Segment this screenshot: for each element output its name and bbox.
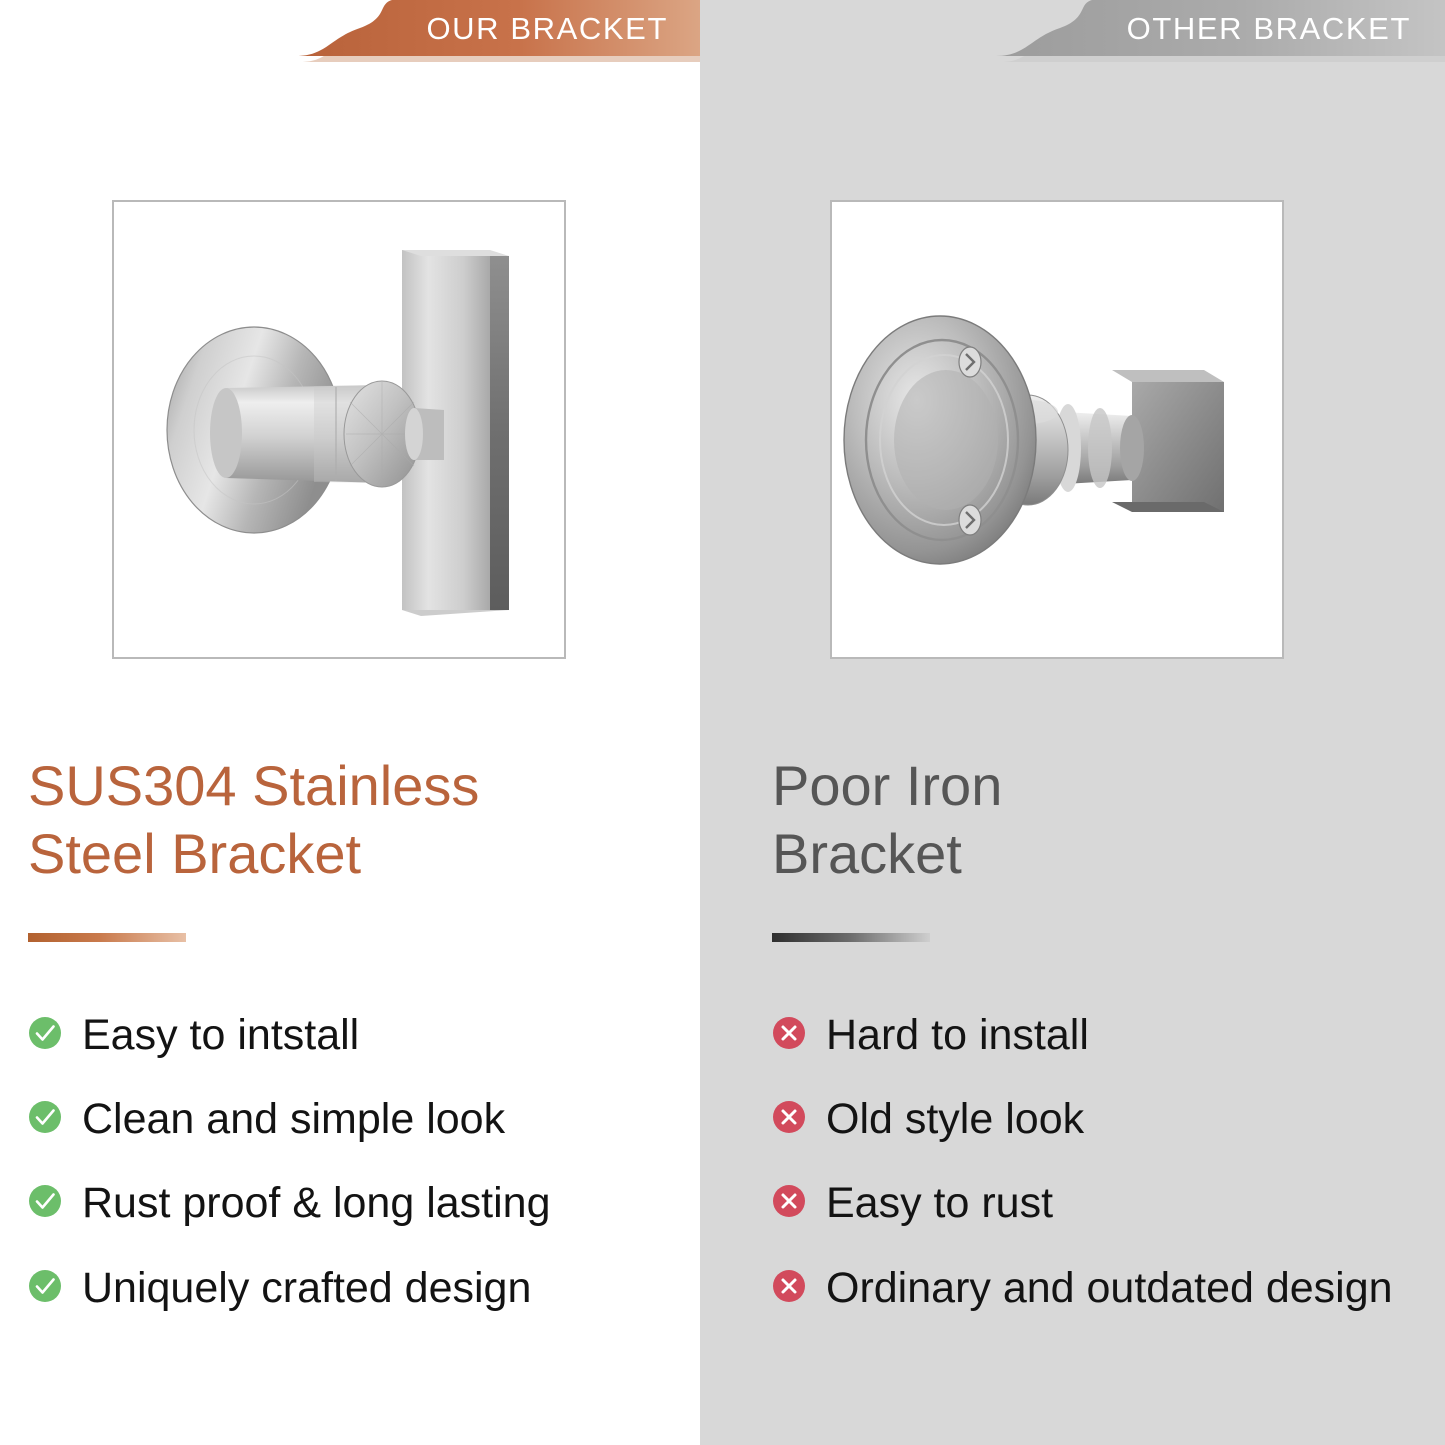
list-item-label: Easy to rust <box>826 1176 1053 1230</box>
screw-top <box>959 347 981 377</box>
list-item-label: Uniquely crafted design <box>82 1261 531 1315</box>
list-item: Clean and simple look <box>28 1092 658 1146</box>
x-circle-icon <box>772 1100 806 1134</box>
x-circle-icon <box>772 1269 806 1303</box>
x-circle-icon <box>772 1184 806 1218</box>
our-bracket-feature-list: Easy to intstall Clean and simple look R… <box>28 1008 658 1345</box>
screw-bottom <box>959 505 981 535</box>
list-item: Ordinary and outdated design <box>772 1261 1412 1315</box>
our-bracket-label: OUR BRACKET <box>426 0 668 62</box>
list-item-label: Old style look <box>826 1092 1084 1146</box>
list-item: Uniquely crafted design <box>28 1261 658 1315</box>
list-item-label: Easy to intstall <box>82 1008 359 1062</box>
list-item: Hard to install <box>772 1008 1412 1062</box>
other-bracket-banner: OTHER BRACKET <box>700 0 1445 62</box>
check-circle-icon <box>28 1184 62 1218</box>
our-bracket-heading: SUS304 Stainless Steel Bracket <box>28 752 648 889</box>
comparison-infographic: OUR BRACKET OTHER BRACKET <box>0 0 1445 1445</box>
iron-bracket-illustration <box>832 202 1282 657</box>
list-item: Easy to rust <box>772 1176 1412 1230</box>
list-item-label: Clean and simple look <box>82 1092 505 1146</box>
other-bracket-accent-rule <box>772 933 930 942</box>
list-item-label: Rust proof & long lasting <box>82 1176 551 1230</box>
list-item-label: Hard to install <box>826 1008 1089 1062</box>
list-item: Rust proof & long lasting <box>28 1176 658 1230</box>
other-bracket-heading: Poor Iron Bracket <box>772 752 1392 889</box>
stainless-bracket-illustration <box>114 202 564 657</box>
list-item: Old style look <box>772 1092 1412 1146</box>
list-item: Easy to intstall <box>28 1008 658 1062</box>
other-bracket-photo <box>830 200 1284 659</box>
other-bracket-feature-list: Hard to install Old style look Easy to r… <box>772 1008 1412 1345</box>
check-circle-icon <box>28 1269 62 1303</box>
list-item-label: Ordinary and outdated design <box>826 1261 1393 1315</box>
check-circle-icon <box>28 1016 62 1050</box>
other-bracket-label: OTHER BRACKET <box>1127 0 1411 62</box>
our-bracket-accent-rule <box>28 933 186 942</box>
our-bracket-photo <box>112 200 566 659</box>
our-bracket-banner: OUR BRACKET <box>0 0 700 62</box>
check-circle-icon <box>28 1100 62 1134</box>
x-circle-icon <box>772 1016 806 1050</box>
